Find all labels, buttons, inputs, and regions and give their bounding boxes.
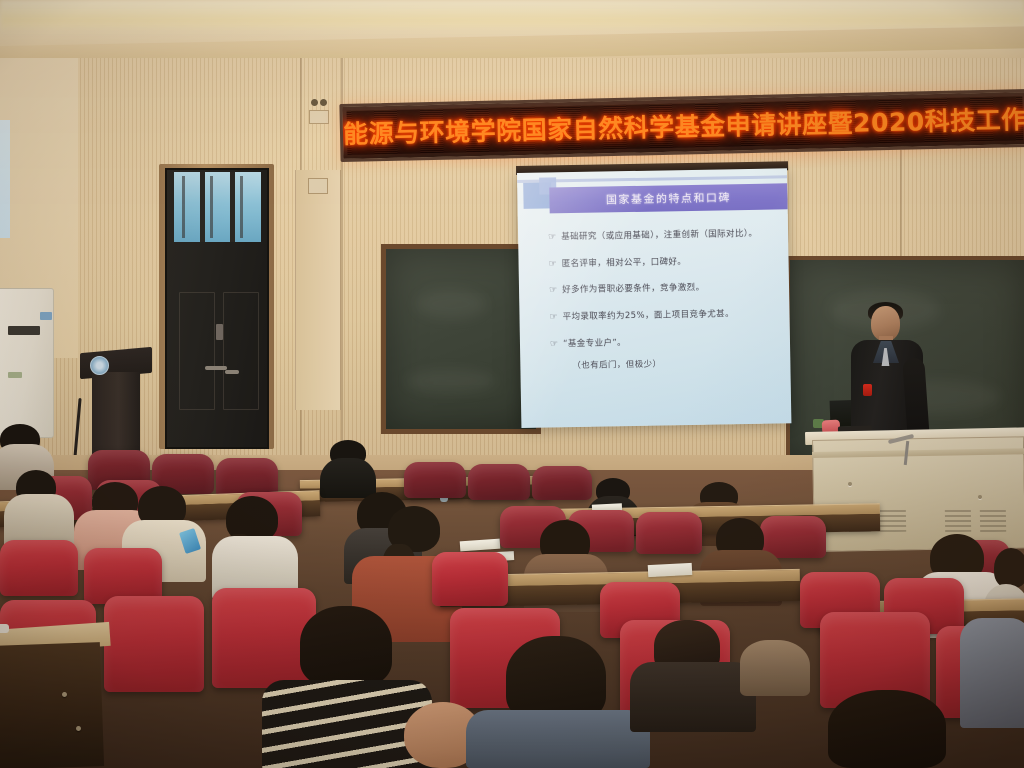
attendee-body bbox=[630, 662, 756, 732]
wall-seam bbox=[900, 150, 902, 260]
seat[interactable] bbox=[104, 596, 204, 692]
slide-bullet-item: ☞ 基础研究（或应用基础），注重创新（国际对比）。 bbox=[548, 228, 788, 243]
desk-screw bbox=[76, 726, 81, 731]
bullet-marker-icon: ☞ bbox=[550, 340, 558, 350]
slide-bullet-item: ☞ 匿名评审，相对公平，口碑好。 bbox=[549, 255, 789, 270]
door-lock-icon bbox=[216, 324, 223, 340]
slide-subnote: （也有后门，但极少） bbox=[572, 355, 790, 371]
door-mullion bbox=[230, 172, 235, 242]
attendee-fur-collar bbox=[740, 640, 810, 696]
lecture-hall-photo: 新能源与环境学院国家自然科学基金申请讲座暨2020科技工作会 国家基金的特点和口… bbox=[0, 0, 1024, 768]
seat[interactable] bbox=[636, 512, 702, 554]
door-handle[interactable] bbox=[225, 370, 239, 374]
window-sliver bbox=[0, 120, 10, 238]
door-panel bbox=[223, 292, 259, 410]
slide-top-rule bbox=[517, 175, 787, 183]
air-conditioner-badge bbox=[40, 312, 52, 320]
slide-title-bar: 国家基金的特点和口碑 bbox=[549, 183, 787, 213]
wall-knob-icon bbox=[311, 99, 318, 106]
window-security-bar bbox=[210, 176, 213, 238]
chalkboard-left bbox=[381, 244, 541, 434]
slide-bullet-item: ☞ 平均录取率约为25%，面上项目竞争尤甚。 bbox=[549, 308, 789, 323]
wall-knob-icon bbox=[320, 99, 327, 106]
bullet-marker-icon: ☞ bbox=[549, 287, 557, 297]
bullet-marker-icon: ☞ bbox=[549, 313, 557, 323]
chalk-smudge bbox=[416, 289, 486, 319]
attendee-hair bbox=[300, 606, 392, 686]
wall-recessed-panel bbox=[295, 170, 341, 410]
desk-screw bbox=[62, 692, 67, 697]
led-banner-text: 新能源与环境学院国家自然科学基金申请讲座暨2020科技工作会 bbox=[339, 99, 1024, 151]
door-mullion bbox=[200, 172, 205, 242]
paper-sheet bbox=[648, 563, 693, 577]
slide-bullet-text: “基金专业户”。 bbox=[563, 338, 626, 350]
chalk-smudge bbox=[406, 369, 496, 393]
slide-title: 国家基金的特点和口碑 bbox=[606, 189, 731, 207]
door-handle[interactable] bbox=[205, 366, 227, 370]
seat[interactable] bbox=[468, 464, 530, 500]
bullet-marker-icon: ☞ bbox=[548, 233, 556, 243]
foreground-desk bbox=[0, 642, 104, 768]
attendee-body bbox=[960, 618, 1024, 728]
slide-bullet-text: 匿名评审，相对公平，口碑好。 bbox=[562, 257, 687, 270]
lectern-screw bbox=[848, 482, 852, 486]
speaker-badge bbox=[863, 384, 872, 396]
cup bbox=[0, 624, 9, 633]
slide-bullet-item: ☞ “基金专业户”。 bbox=[550, 335, 790, 350]
university-emblem-icon bbox=[90, 356, 109, 375]
slide-bullet-text: 基础研究（或应用基础），注重创新（国际对比）。 bbox=[561, 229, 757, 243]
side-podium[interactable] bbox=[92, 372, 140, 462]
air-conditioner[interactable] bbox=[0, 288, 54, 438]
window-security-bar bbox=[240, 176, 243, 238]
seat[interactable] bbox=[404, 462, 466, 498]
light-switch-plate[interactable] bbox=[308, 178, 328, 194]
window-security-bar bbox=[182, 176, 185, 238]
seat[interactable] bbox=[532, 466, 592, 500]
lectern-vent bbox=[880, 508, 906, 532]
light-switch-plate[interactable] bbox=[309, 110, 329, 124]
projection-screen: 国家基金的特点和口碑 ☞ 基础研究（或应用基础），注重创新（国际对比）。 ☞ 匿… bbox=[517, 168, 791, 428]
air-conditioner-vent bbox=[8, 326, 40, 335]
lectern-screw bbox=[978, 495, 982, 499]
lectern-vent bbox=[980, 508, 1006, 532]
slide-bullet-item: ☞ 好多作为晋职必要条件，竞争激烈。 bbox=[549, 282, 789, 297]
slide-bullet-text: 好多作为晋职必要条件，竞争激烈。 bbox=[562, 283, 705, 296]
lectern-vent bbox=[945, 508, 971, 532]
slide-bullet-text: 平均录取率约为25%，面上项目竞争尤甚。 bbox=[563, 309, 735, 323]
door-window-glass bbox=[174, 172, 261, 242]
door-panel bbox=[179, 292, 215, 410]
attendee-body bbox=[466, 710, 650, 768]
attendee-body bbox=[320, 458, 376, 498]
attendee-hair bbox=[994, 548, 1024, 588]
slide-bullet-list: ☞ 基础研究（或应用基础），注重创新（国际对比）。 ☞ 匿名评审，相对公平，口碑… bbox=[548, 228, 790, 371]
air-conditioner-logo bbox=[8, 372, 22, 378]
attendee-hair bbox=[828, 690, 946, 768]
seat[interactable] bbox=[0, 540, 78, 596]
seat[interactable] bbox=[432, 552, 508, 606]
led-banner-screen: 新能源与环境学院国家自然科学基金申请讲座暨2020科技工作会 bbox=[347, 96, 1024, 155]
bullet-marker-icon: ☞ bbox=[549, 260, 557, 270]
